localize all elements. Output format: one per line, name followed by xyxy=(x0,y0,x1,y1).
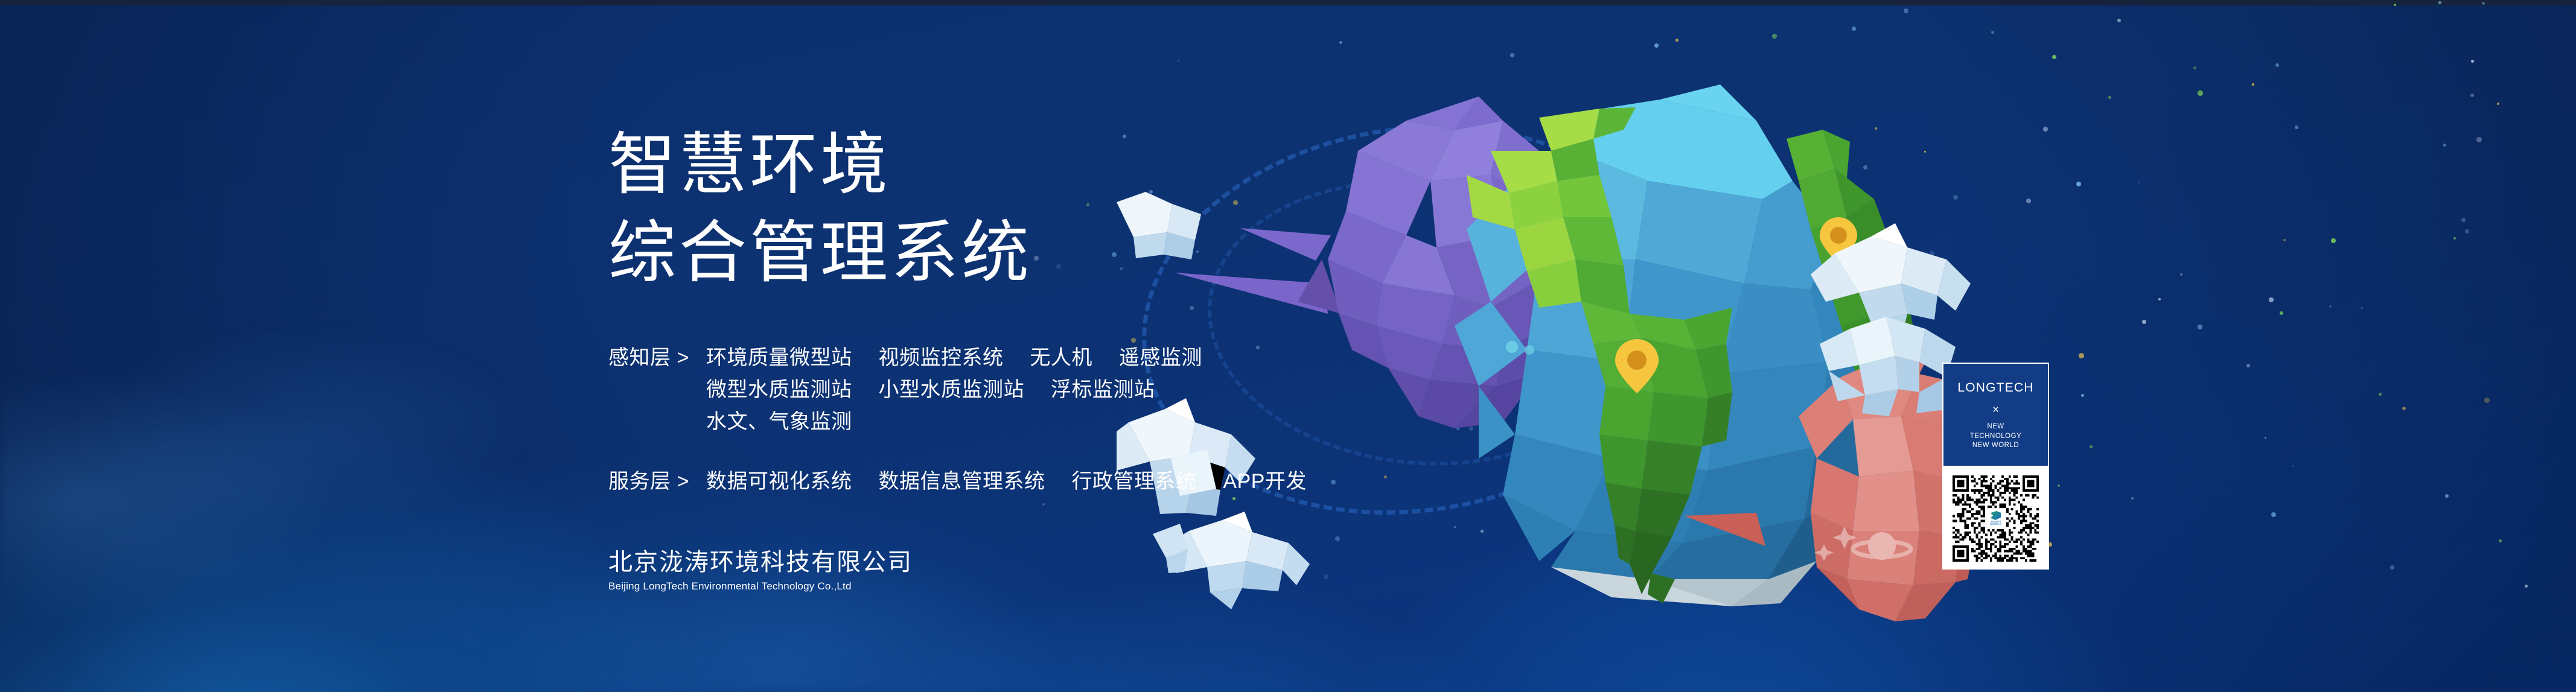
star-dot xyxy=(2081,394,2084,397)
layer-chip[interactable]: 水文、气象监测 xyxy=(706,410,852,433)
star-dot xyxy=(2476,137,2482,142)
layer-gap xyxy=(608,438,1212,466)
company-name-en: Beijing LongTech Environmental Technolog… xyxy=(608,580,913,592)
layer-chip[interactable]: 行政管理系统 xyxy=(1071,470,1196,493)
cloud-small-bottom xyxy=(1153,512,1310,609)
star-dot xyxy=(2331,238,2336,243)
star-dot xyxy=(2461,218,2466,222)
layer-chip[interactable]: APP开发 xyxy=(1223,470,1307,493)
layer-line: 数据可视化系统 数据信息管理系统 行政管理系统 APP开发 xyxy=(706,466,1307,498)
layer-chip[interactable]: 微型水质监测站 xyxy=(706,378,852,401)
space-illustration xyxy=(1117,0,2022,692)
star-dot xyxy=(2283,239,2286,241)
star-dot xyxy=(2471,60,2474,63)
star-dot xyxy=(2453,237,2456,240)
star-dot xyxy=(2329,305,2332,308)
qr-tagline-line-3: NEW WORLD xyxy=(1970,441,2022,451)
layer-items: 环境质量微型站 视频监控系统 无人机 遥感监测 微型水质监测站 小型水质监测站 … xyxy=(706,342,1202,438)
layer-chip[interactable]: 遥感监测 xyxy=(1119,346,1202,369)
layer-label[interactable]: 感知层 > xyxy=(608,342,706,374)
star-dot xyxy=(2079,353,2084,358)
star-dot xyxy=(2445,494,2449,498)
star-dot xyxy=(2275,63,2279,67)
qr-card-header: LONGTECH × NEW TECHNOLOGY NEW WORLD xyxy=(1942,363,2049,467)
star-dot xyxy=(2499,539,2502,542)
layer-line: 环境质量微型站 视频监控系统 无人机 遥感监测 xyxy=(706,342,1202,374)
star-dot xyxy=(2131,497,2134,500)
headline-line-1: 智慧环境 xyxy=(608,121,1212,209)
layer-chip[interactable]: 数据信息管理系统 xyxy=(878,470,1045,493)
qr-logo-text: 北京泷涛环境 科技有限公司 xyxy=(1990,521,2001,525)
layer-row-perception: 感知层 > 环境质量微型站 视频监控系统 无人机 遥感监测 微型水质监测站 小型… xyxy=(608,342,1212,438)
star-dot xyxy=(2198,90,2203,96)
company-name-cn: 北京泷涛环境科技有限公司 xyxy=(608,548,913,577)
star-dot xyxy=(2058,484,2060,487)
layer-chip[interactable]: 浮标监测站 xyxy=(1051,378,1155,401)
headline-block: 智慧环境 综合管理系统 感知层 > 环境质量微型站 视频监控系统 无人机 遥感监… xyxy=(608,121,1212,498)
star-dot xyxy=(2142,320,2146,324)
star-dot xyxy=(2117,19,2121,22)
qr-separator-icon: × xyxy=(1992,404,1999,416)
company-signature: 北京泷涛环境科技有限公司 Beijing LongTech Environmen… xyxy=(608,548,913,592)
layer-chip[interactable]: 视频监控系统 xyxy=(878,346,1003,369)
layer-chip[interactable]: 无人机 xyxy=(1030,346,1092,369)
star-dot xyxy=(2443,144,2446,147)
star-dot xyxy=(2269,297,2274,302)
star-dot xyxy=(2280,311,2283,315)
star-dot xyxy=(2198,325,2202,329)
star-dot xyxy=(2497,103,2499,105)
layer-items: 数据可视化系统 数据信息管理系统 行政管理系统 APP开发 xyxy=(706,466,1307,498)
qr-contact-card[interactable]: LONGTECH × NEW TECHNOLOGY NEW WORLD 北京泷涛… xyxy=(1942,363,2049,570)
star-dot xyxy=(2394,4,2396,6)
qr-tagline: NEW TECHNOLOGY NEW WORLD xyxy=(1970,422,2022,451)
headline-line-2: 综合管理系统 xyxy=(608,209,1212,297)
qr-tagline-line-2: TECHNOLOGY xyxy=(1970,432,2022,442)
layer-list: 感知层 > 环境质量微型站 视频监控系统 无人机 遥感监测 微型水质监测站 小型… xyxy=(608,342,1212,498)
layer-chip[interactable]: 环境质量微型站 xyxy=(706,346,852,369)
layer-row-service: 服务层 > 数据可视化系统 数据信息管理系统 行政管理系统 APP开发 xyxy=(608,466,1212,498)
star-dot xyxy=(2361,307,2363,309)
star-dot xyxy=(1042,503,1045,506)
qr-code[interactable]: 北京泷涛环境 科技有限公司 xyxy=(1953,475,2039,562)
qr-center-logo: 北京泷涛环境 科技有限公司 xyxy=(1986,508,2006,529)
hero-banner: 智慧环境 综合管理系统 感知层 > 环境质量微型站 视频监控系统 无人机 遥感监… xyxy=(0,0,2576,692)
longtech-logo-icon xyxy=(1991,511,2001,520)
qr-code-area[interactable]: 北京泷涛环境 科技有限公司 xyxy=(1942,467,2049,570)
star-dot xyxy=(2026,198,2031,203)
star-dot xyxy=(2484,398,2490,403)
layer-line: 水文、气象监测 xyxy=(706,406,1202,438)
star-dot xyxy=(2193,66,2196,69)
star-dot xyxy=(2438,1,2441,4)
star-dot xyxy=(2295,125,2298,129)
qr-tagline-line-1: NEW xyxy=(1970,422,2022,432)
star-dot xyxy=(2158,298,2161,300)
layer-chip[interactable]: 小型水质监测站 xyxy=(878,378,1024,401)
star-dot xyxy=(2465,229,2469,233)
star-dot xyxy=(2052,55,2056,59)
qr-logo-text-line-2: 科技有限公司 xyxy=(1990,523,2001,525)
layer-label[interactable]: 服务层 > xyxy=(608,466,706,498)
layer-chip[interactable]: 数据可视化系统 xyxy=(706,470,852,493)
qr-brand-label: LONGTECH xyxy=(1957,381,2033,394)
layer-line: 微型水质监测站 小型水质监测站 浮标监测站 xyxy=(706,374,1202,406)
